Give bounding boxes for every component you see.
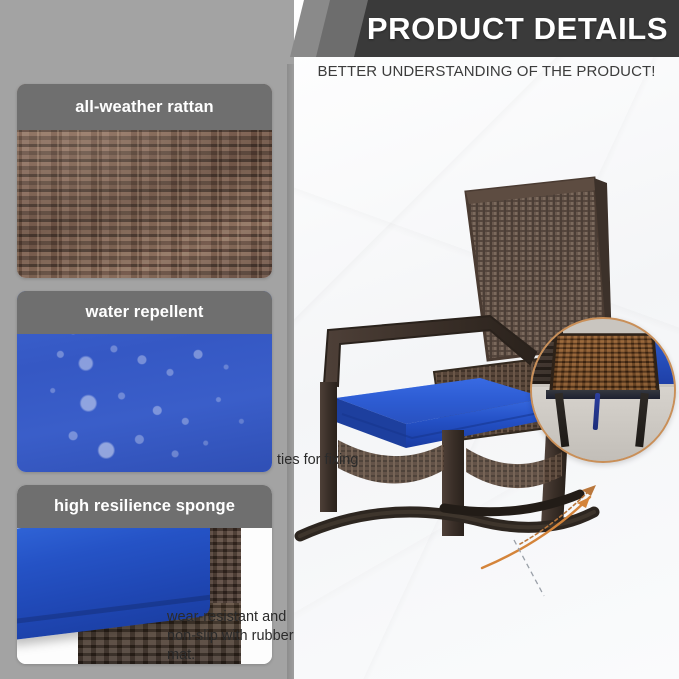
header-banner: PRODUCT DETAILS bbox=[290, 0, 679, 57]
ties-callout-circle bbox=[530, 317, 676, 463]
header-subtitle: BETTER UNDERSTANDING OF THE PRODUCT! bbox=[294, 58, 679, 84]
annotation-line-3: mat. bbox=[167, 646, 347, 665]
column-divider bbox=[287, 64, 294, 679]
annotation-line-1: wear-resistant and bbox=[167, 608, 347, 627]
annotation-line-2: non-slip with rubber bbox=[167, 627, 347, 646]
header-title: PRODUCT DETAILS bbox=[290, 0, 679, 57]
feature-card-rattan-label: all-weather rattan bbox=[17, 84, 272, 130]
feature-sidebar: all-weather rattan water repellent high … bbox=[0, 0, 287, 679]
feature-card-rattan: all-weather rattan bbox=[17, 84, 272, 278]
infographic-root: all-weather rattan water repellent high … bbox=[0, 0, 679, 679]
feature-card-sponge-label: high resilience sponge bbox=[17, 485, 272, 528]
rubber-mat-annotation: wear-resistant and non-slip with rubber … bbox=[167, 608, 347, 665]
product-showcase-panel bbox=[294, 0, 679, 679]
feature-card-water-repellent: water repellent bbox=[17, 291, 272, 472]
ties-callout-label: ties for fixing bbox=[277, 452, 385, 468]
feature-card-water-repellent-label: water repellent bbox=[17, 291, 272, 334]
